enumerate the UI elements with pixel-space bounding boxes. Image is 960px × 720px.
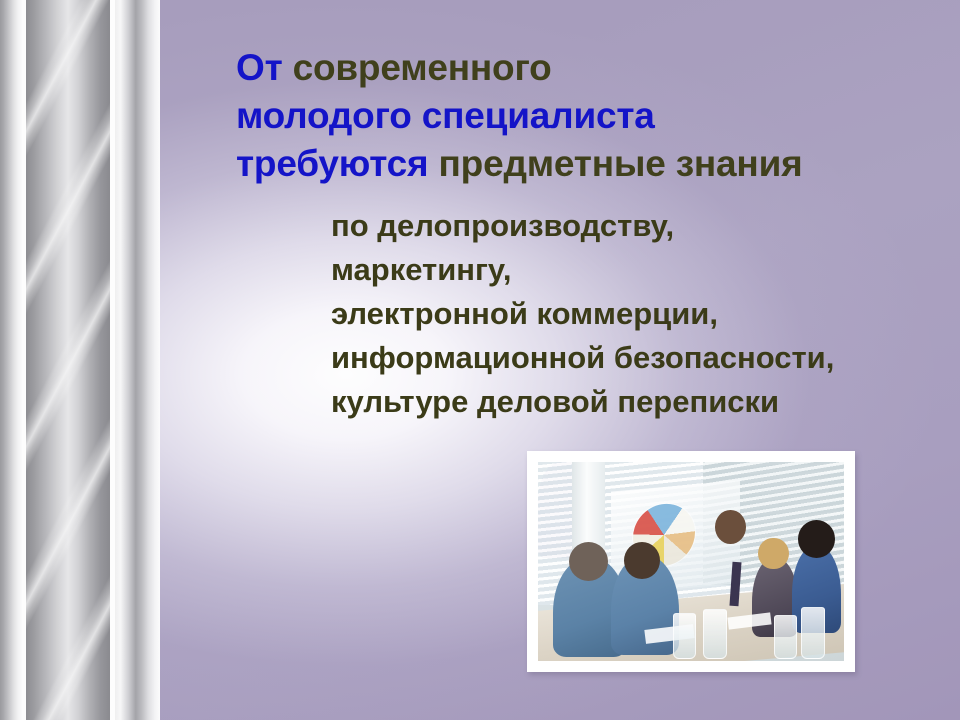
body-line: по делопроизводству, — [331, 204, 951, 248]
title-line-1-olive: современного — [293, 47, 552, 88]
title-line-3: требуются предметные знания — [236, 140, 936, 188]
body-line: культуре деловой переписки — [331, 380, 951, 424]
person-head-3 — [758, 538, 789, 570]
presenter-head — [715, 510, 746, 544]
spiral-highlight-overlay — [26, 0, 110, 720]
page-title: От современного молодого специалиста тре… — [236, 44, 936, 188]
photo-frame — [527, 451, 855, 672]
border-inner-strip — [115, 0, 160, 720]
business-meeting-photo — [538, 462, 844, 661]
water-glass — [673, 613, 696, 659]
title-line-1: От современного — [236, 44, 936, 92]
spiral-column-icon — [26, 0, 110, 720]
water-glass — [801, 607, 824, 659]
water-glass — [774, 615, 797, 659]
border-outer-strip — [0, 0, 22, 720]
water-glass — [703, 609, 726, 659]
body-line: информационной безопасности, — [331, 336, 951, 380]
title-line-3-olive: предметные знания — [439, 143, 803, 184]
person-head-4 — [798, 520, 835, 558]
title-line-1-blue: От — [236, 47, 293, 88]
title-line-2-blue: молодого специалиста — [236, 95, 655, 136]
body-line: электронной коммерции, — [331, 292, 951, 336]
presentation-slide: От современного молодого специалиста тре… — [0, 0, 960, 720]
body-line: маркетингу, — [331, 248, 951, 292]
title-line-3-blue: требуются — [236, 143, 439, 184]
title-line-2: молодого специалиста — [236, 92, 936, 140]
body-text-block: по делопроизводству, маркетингу, электро… — [331, 204, 951, 424]
left-decorative-border — [0, 0, 160, 720]
